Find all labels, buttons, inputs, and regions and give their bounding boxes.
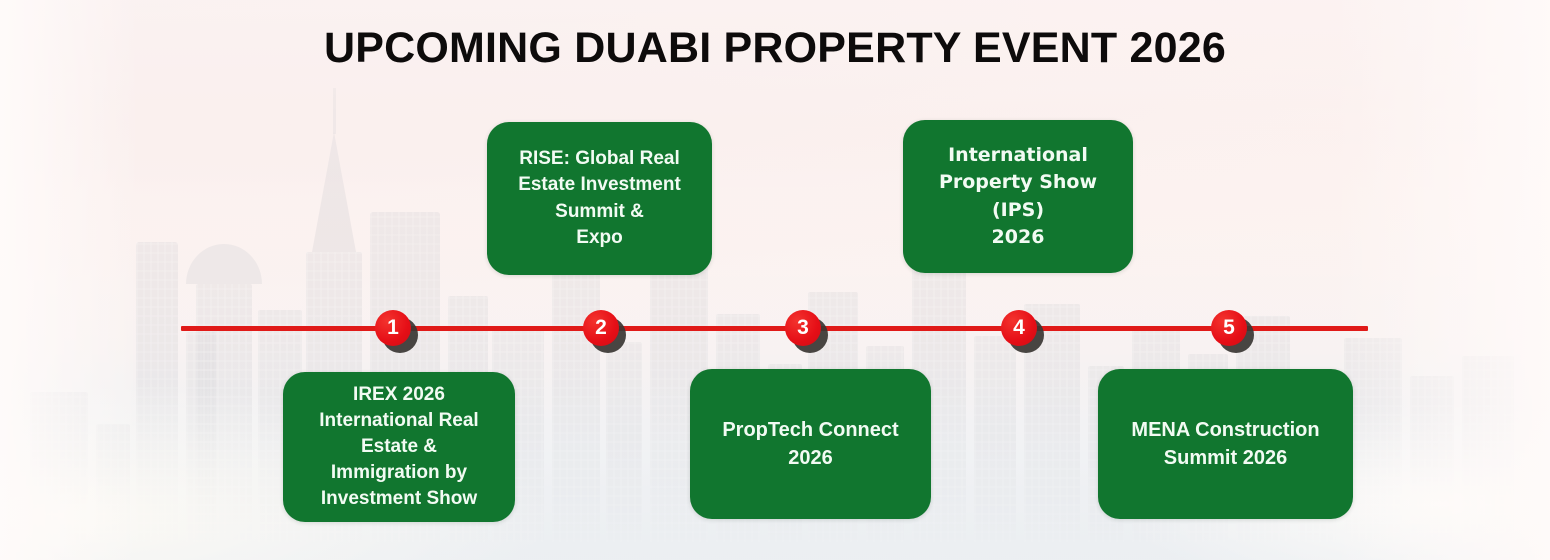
marker-disc: 5 bbox=[1211, 310, 1247, 346]
marker-number: 1 bbox=[387, 317, 399, 338]
event-card-proptech-connect[interactable]: PropTech Connect2026 bbox=[690, 369, 931, 519]
marker-disc: 1 bbox=[375, 310, 411, 346]
timeline-marker-2[interactable]: 2 bbox=[583, 310, 619, 346]
marker-disc: 2 bbox=[583, 310, 619, 346]
timeline-marker-3[interactable]: 3 bbox=[785, 310, 821, 346]
marker-number: 4 bbox=[1013, 317, 1025, 338]
timeline-marker-4[interactable]: 4 bbox=[1001, 310, 1037, 346]
marker-number: 3 bbox=[797, 317, 809, 338]
infographic-poster: UPCOMING DUABI PROPERTY EVENT 2026 1 2 3… bbox=[0, 0, 1550, 560]
timeline-rail bbox=[181, 326, 1368, 331]
event-card-title: RISE: Global RealEstate InvestmentSummit… bbox=[501, 146, 698, 250]
event-card-title: InternationalProperty Show (IPS)2026 bbox=[917, 142, 1119, 251]
event-card-title: PropTech Connect2026 bbox=[704, 416, 917, 472]
timeline-marker-1[interactable]: 1 bbox=[375, 310, 411, 346]
timeline-marker-5[interactable]: 5 bbox=[1211, 310, 1247, 346]
marker-number: 5 bbox=[1223, 317, 1235, 338]
event-card-international-property-show[interactable]: InternationalProperty Show (IPS)2026 bbox=[903, 120, 1133, 273]
marker-disc: 3 bbox=[785, 310, 821, 346]
event-card-title: IREX 2026International RealEstate &Immig… bbox=[297, 382, 501, 512]
page-title: UPCOMING DUABI PROPERTY EVENT 2026 bbox=[0, 26, 1550, 72]
marker-number: 2 bbox=[595, 317, 607, 338]
event-card-irex-2026[interactable]: IREX 2026International RealEstate &Immig… bbox=[283, 372, 515, 522]
marker-disc: 4 bbox=[1001, 310, 1037, 346]
event-card-mena-construction-summit[interactable]: MENA ConstructionSummit 2026 bbox=[1098, 369, 1353, 519]
event-card-title: MENA ConstructionSummit 2026 bbox=[1112, 416, 1339, 472]
event-card-rise-summit[interactable]: RISE: Global RealEstate InvestmentSummit… bbox=[487, 122, 712, 275]
